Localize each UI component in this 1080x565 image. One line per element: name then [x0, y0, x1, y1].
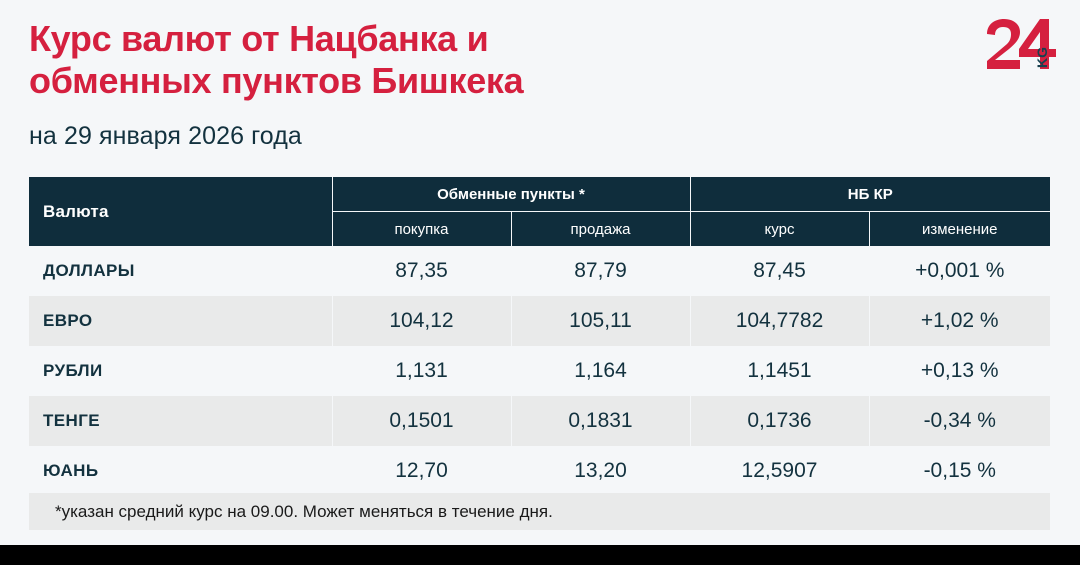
- cell-buy: 87,35: [332, 246, 511, 296]
- bottom-bar: [0, 545, 1080, 565]
- cell-rate: 1,1451: [690, 346, 869, 396]
- logo-24kg[interactable]: KG: [985, 18, 1061, 70]
- cell-sell: 1,164: [511, 346, 690, 396]
- cell-rate: 104,7782: [690, 296, 869, 346]
- cell-rate: 12,5907: [690, 446, 869, 496]
- cell-sell: 87,79: [511, 246, 690, 296]
- cell-currency-name: ЕВРО: [29, 296, 332, 346]
- column-header-currency: Валюта: [29, 177, 332, 246]
- table-footnote: *указан средний курс на 09.00. Может мен…: [29, 493, 1050, 530]
- page-title-line-1: Курс валют от Нацбанка и: [29, 18, 729, 60]
- cell-change: +0,13 %: [869, 346, 1050, 396]
- cell-sell: 105,11: [511, 296, 690, 346]
- table-row: ТЕНГЕ 0,1501 0,1831 0,1736 -0,34 %: [29, 396, 1050, 446]
- cell-currency-name: ДОЛЛАРЫ: [29, 246, 332, 296]
- cell-change: +0,001 %: [869, 246, 1050, 296]
- header-block: Курс валют от Нацбанка и обменных пункто…: [29, 18, 1049, 151]
- cell-buy: 0,1501: [332, 396, 511, 446]
- cell-rate: 87,45: [690, 246, 869, 296]
- table-row: ЕВРО 104,12 105,11 104,7782 +1,02 %: [29, 296, 1050, 346]
- currency-rates-table: Валюта Обменные пункты * НБ КР покупка п…: [29, 177, 1050, 496]
- page-subtitle-date: на 29 января 2026 года: [29, 102, 1049, 151]
- cell-currency-name: РУБЛИ: [29, 346, 332, 396]
- table-header-group-row: Валюта Обменные пункты * НБ КР: [29, 177, 1050, 212]
- column-group-header-exchange-points: Обменные пункты *: [332, 177, 690, 212]
- infographic-page: Курс валют от Нацбанка и обменных пункто…: [0, 0, 1080, 545]
- cell-buy: 104,12: [332, 296, 511, 346]
- column-header-change: изменение: [869, 212, 1050, 247]
- table-header: Валюта Обменные пункты * НБ КР покупка п…: [29, 177, 1050, 246]
- page-title-line-2: обменных пунктов Бишкека: [29, 60, 729, 102]
- cell-change: +1,02 %: [869, 296, 1050, 346]
- table-row: ДОЛЛАРЫ 87,35 87,79 87,45 +0,001 %: [29, 246, 1050, 296]
- column-group-header-national-bank: НБ КР: [690, 177, 1050, 212]
- cell-currency-name: ЮАНЬ: [29, 446, 332, 496]
- column-header-buy: покупка: [332, 212, 511, 247]
- column-header-rate: курс: [690, 212, 869, 247]
- cell-sell: 0,1831: [511, 396, 690, 446]
- logo-24kg-icon: KG: [985, 18, 1061, 70]
- cell-rate: 0,1736: [690, 396, 869, 446]
- cell-buy: 12,70: [332, 446, 511, 496]
- cell-change: -0,15 %: [869, 446, 1050, 496]
- cell-buy: 1,131: [332, 346, 511, 396]
- table-row: ЮАНЬ 12,70 13,20 12,5907 -0,15 %: [29, 446, 1050, 496]
- cell-sell: 13,20: [511, 446, 690, 496]
- cell-currency-name: ТЕНГЕ: [29, 396, 332, 446]
- cell-change: -0,34 %: [869, 396, 1050, 446]
- page-title: Курс валют от Нацбанка и обменных пункто…: [29, 18, 729, 102]
- table-row: РУБЛИ 1,131 1,164 1,1451 +0,13 %: [29, 346, 1050, 396]
- table-body: ДОЛЛАРЫ 87,35 87,79 87,45 +0,001 % ЕВРО …: [29, 246, 1050, 496]
- svg-text:KG: KG: [1034, 47, 1050, 68]
- column-header-sell: продажа: [511, 212, 690, 247]
